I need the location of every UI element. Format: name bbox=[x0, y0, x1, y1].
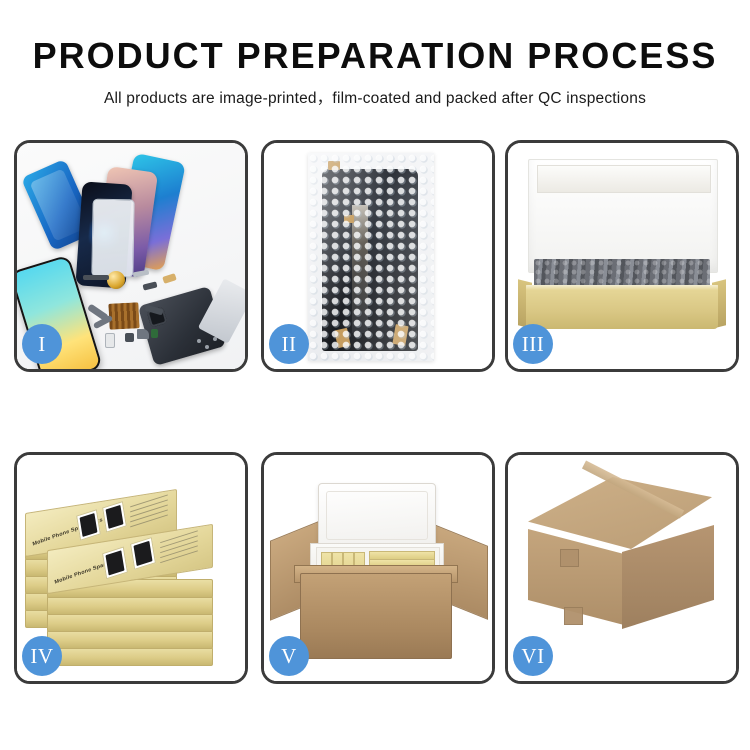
step-badge-4: IV bbox=[22, 636, 62, 676]
process-step-1: I bbox=[14, 140, 248, 372]
step-badge-5: V bbox=[269, 636, 309, 676]
box-window-left bbox=[102, 546, 128, 579]
process-step-6: VI bbox=[505, 452, 739, 684]
part-small-6 bbox=[105, 333, 115, 348]
process-step-4: Mobile Phone Spare Parts bbox=[14, 452, 248, 684]
carton-body bbox=[300, 573, 452, 659]
part-small-5 bbox=[151, 329, 158, 338]
page-title: PRODUCT PREPARATION PROCESS bbox=[0, 34, 750, 78]
white-box-lid bbox=[528, 159, 718, 273]
kraft-box-base bbox=[526, 285, 718, 329]
chip-array bbox=[108, 302, 139, 330]
process-step-3: III bbox=[505, 140, 739, 372]
gold-component bbox=[107, 271, 125, 289]
part-small-4 bbox=[137, 329, 149, 339]
seal-sticker-top bbox=[560, 549, 579, 567]
seal-sticker-bottom bbox=[564, 607, 583, 625]
plastic-sheen bbox=[308, 153, 434, 361]
screw-1 bbox=[197, 339, 201, 343]
step-badge-3: III bbox=[513, 324, 553, 364]
product-preparation-infographic: PRODUCT PREPARATION PROCESS All products… bbox=[0, 0, 750, 750]
step-badge-1: I bbox=[22, 324, 62, 364]
header: PRODUCT PREPARATION PROCESS All products… bbox=[0, 34, 750, 108]
page-subtitle: All products are image-printed，film-coat… bbox=[0, 86, 750, 108]
process-step-5: V bbox=[261, 452, 495, 684]
lid-flap bbox=[537, 165, 711, 193]
screen-protector bbox=[91, 199, 134, 278]
box-layer bbox=[47, 613, 213, 632]
box-window-right bbox=[130, 537, 156, 570]
bubble-wrap-bag bbox=[308, 153, 434, 361]
box-stack-front: Mobile Phone Spare Parts bbox=[47, 511, 213, 671]
part-strip bbox=[83, 275, 109, 280]
process-grid: I II bbox=[14, 140, 736, 688]
step-badge-2: II bbox=[269, 324, 309, 364]
box-layer bbox=[47, 647, 213, 666]
box-layer bbox=[47, 596, 213, 615]
process-step-2: II bbox=[261, 140, 495, 372]
box-layer bbox=[47, 630, 213, 649]
step-badge-6: VI bbox=[513, 636, 553, 676]
part-small-3 bbox=[125, 333, 134, 342]
screw-2 bbox=[205, 345, 209, 349]
